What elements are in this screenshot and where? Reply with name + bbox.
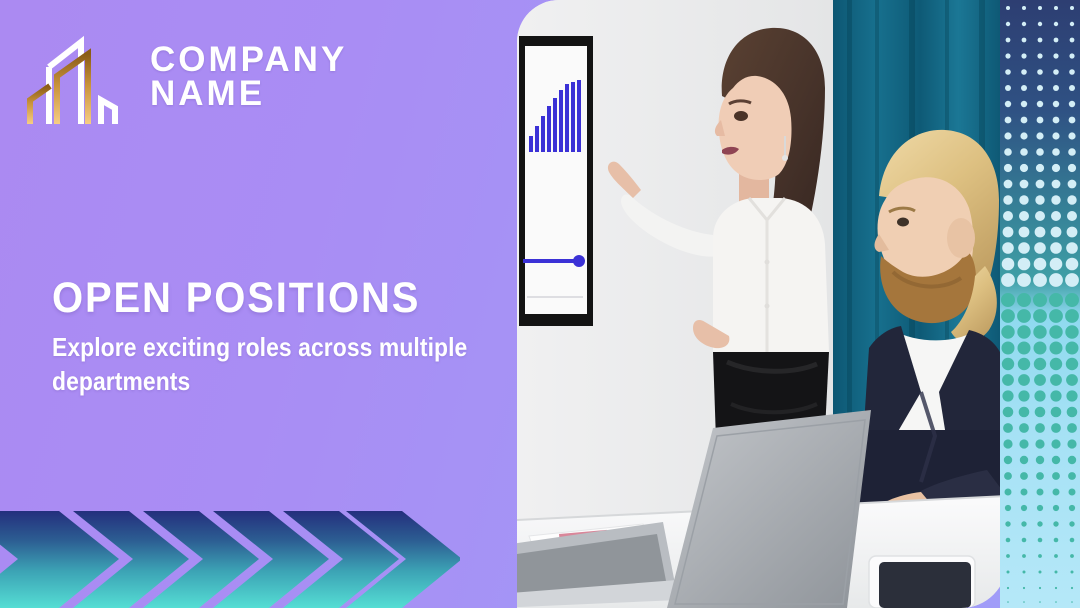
logo-line-1: COMPANY <box>150 43 347 77</box>
photo-illustration <box>517 0 1007 608</box>
headline-block: OPEN POSITIONS Explore exciting roles ac… <box>52 277 502 399</box>
halftone-dot-strip <box>1000 0 1080 608</box>
smartphone <box>869 556 975 608</box>
person-seated <box>857 130 1007 552</box>
presenter-eye <box>734 111 748 121</box>
presenter-shirt <box>713 198 829 352</box>
seated-eye <box>897 218 909 227</box>
presenter-earring <box>782 155 788 161</box>
slide-canvas: COMPANY NAME OPEN POSITIONS Explore exci… <box>0 0 1080 608</box>
wall-display <box>519 36 593 326</box>
page-subtitle: Explore exciting roles across multiple d… <box>52 331 510 399</box>
logo-wordmark: COMPANY NAME <box>150 43 347 110</box>
logo-lockup: COMPANY NAME <box>18 18 347 136</box>
chevron-arrow-group <box>0 483 460 608</box>
office-presentation-photo <box>517 0 1007 608</box>
presenter-face <box>719 76 792 180</box>
phone-screen <box>879 562 971 608</box>
page-title: OPEN POSITIONS <box>52 277 471 320</box>
seated-ear <box>947 218 975 258</box>
left-content-panel: COMPANY NAME OPEN POSITIONS Explore exci… <box>0 0 520 608</box>
building-skyline-logo-icon <box>18 18 136 136</box>
logo-line-2: NAME <box>150 77 347 111</box>
